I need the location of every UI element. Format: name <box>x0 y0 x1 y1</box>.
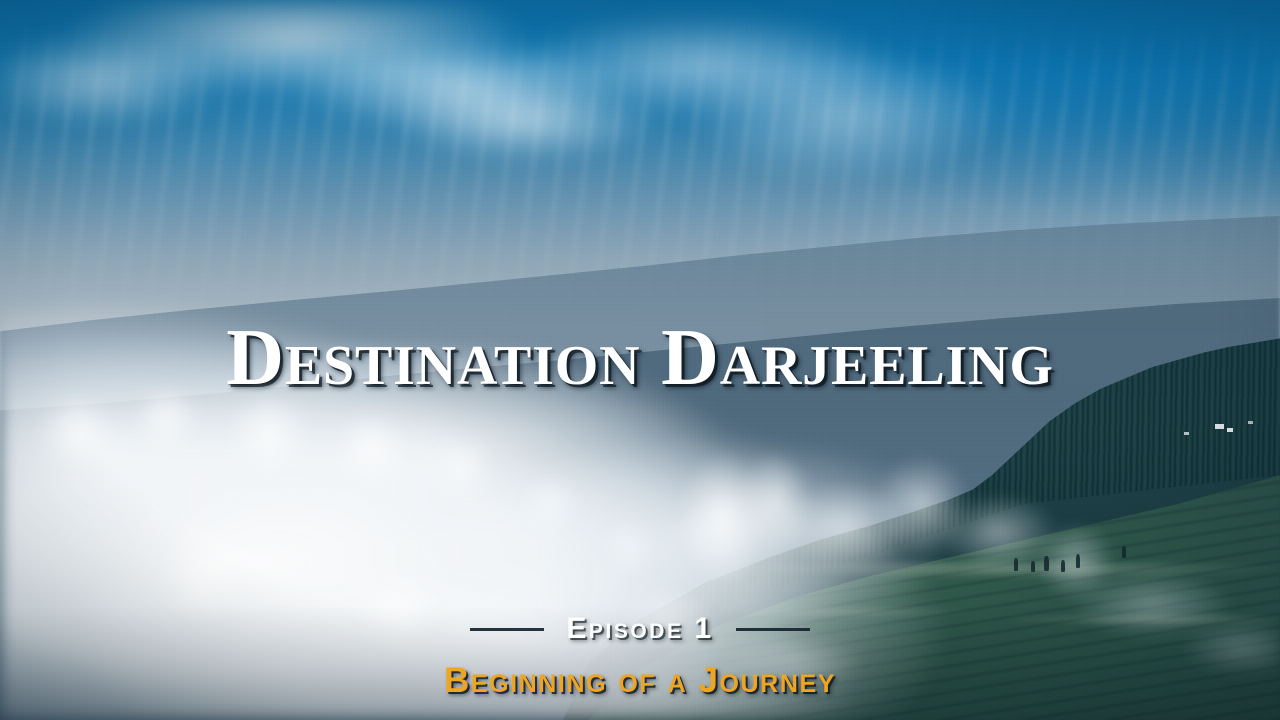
rule-right <box>736 628 810 631</box>
rule-left <box>470 628 544 631</box>
title-overlay: Destination Darjeeling Episode 1 Beginni… <box>0 0 1280 720</box>
main-title: Destination Darjeeling <box>0 318 1280 398</box>
episode-row: Episode 1 <box>0 614 1280 644</box>
title-card: Destination Darjeeling Episode 1 Beginni… <box>0 0 1280 720</box>
episode-label: Episode 1 <box>566 614 713 644</box>
episode-subtitle: Beginning of a Journey <box>0 663 1280 698</box>
